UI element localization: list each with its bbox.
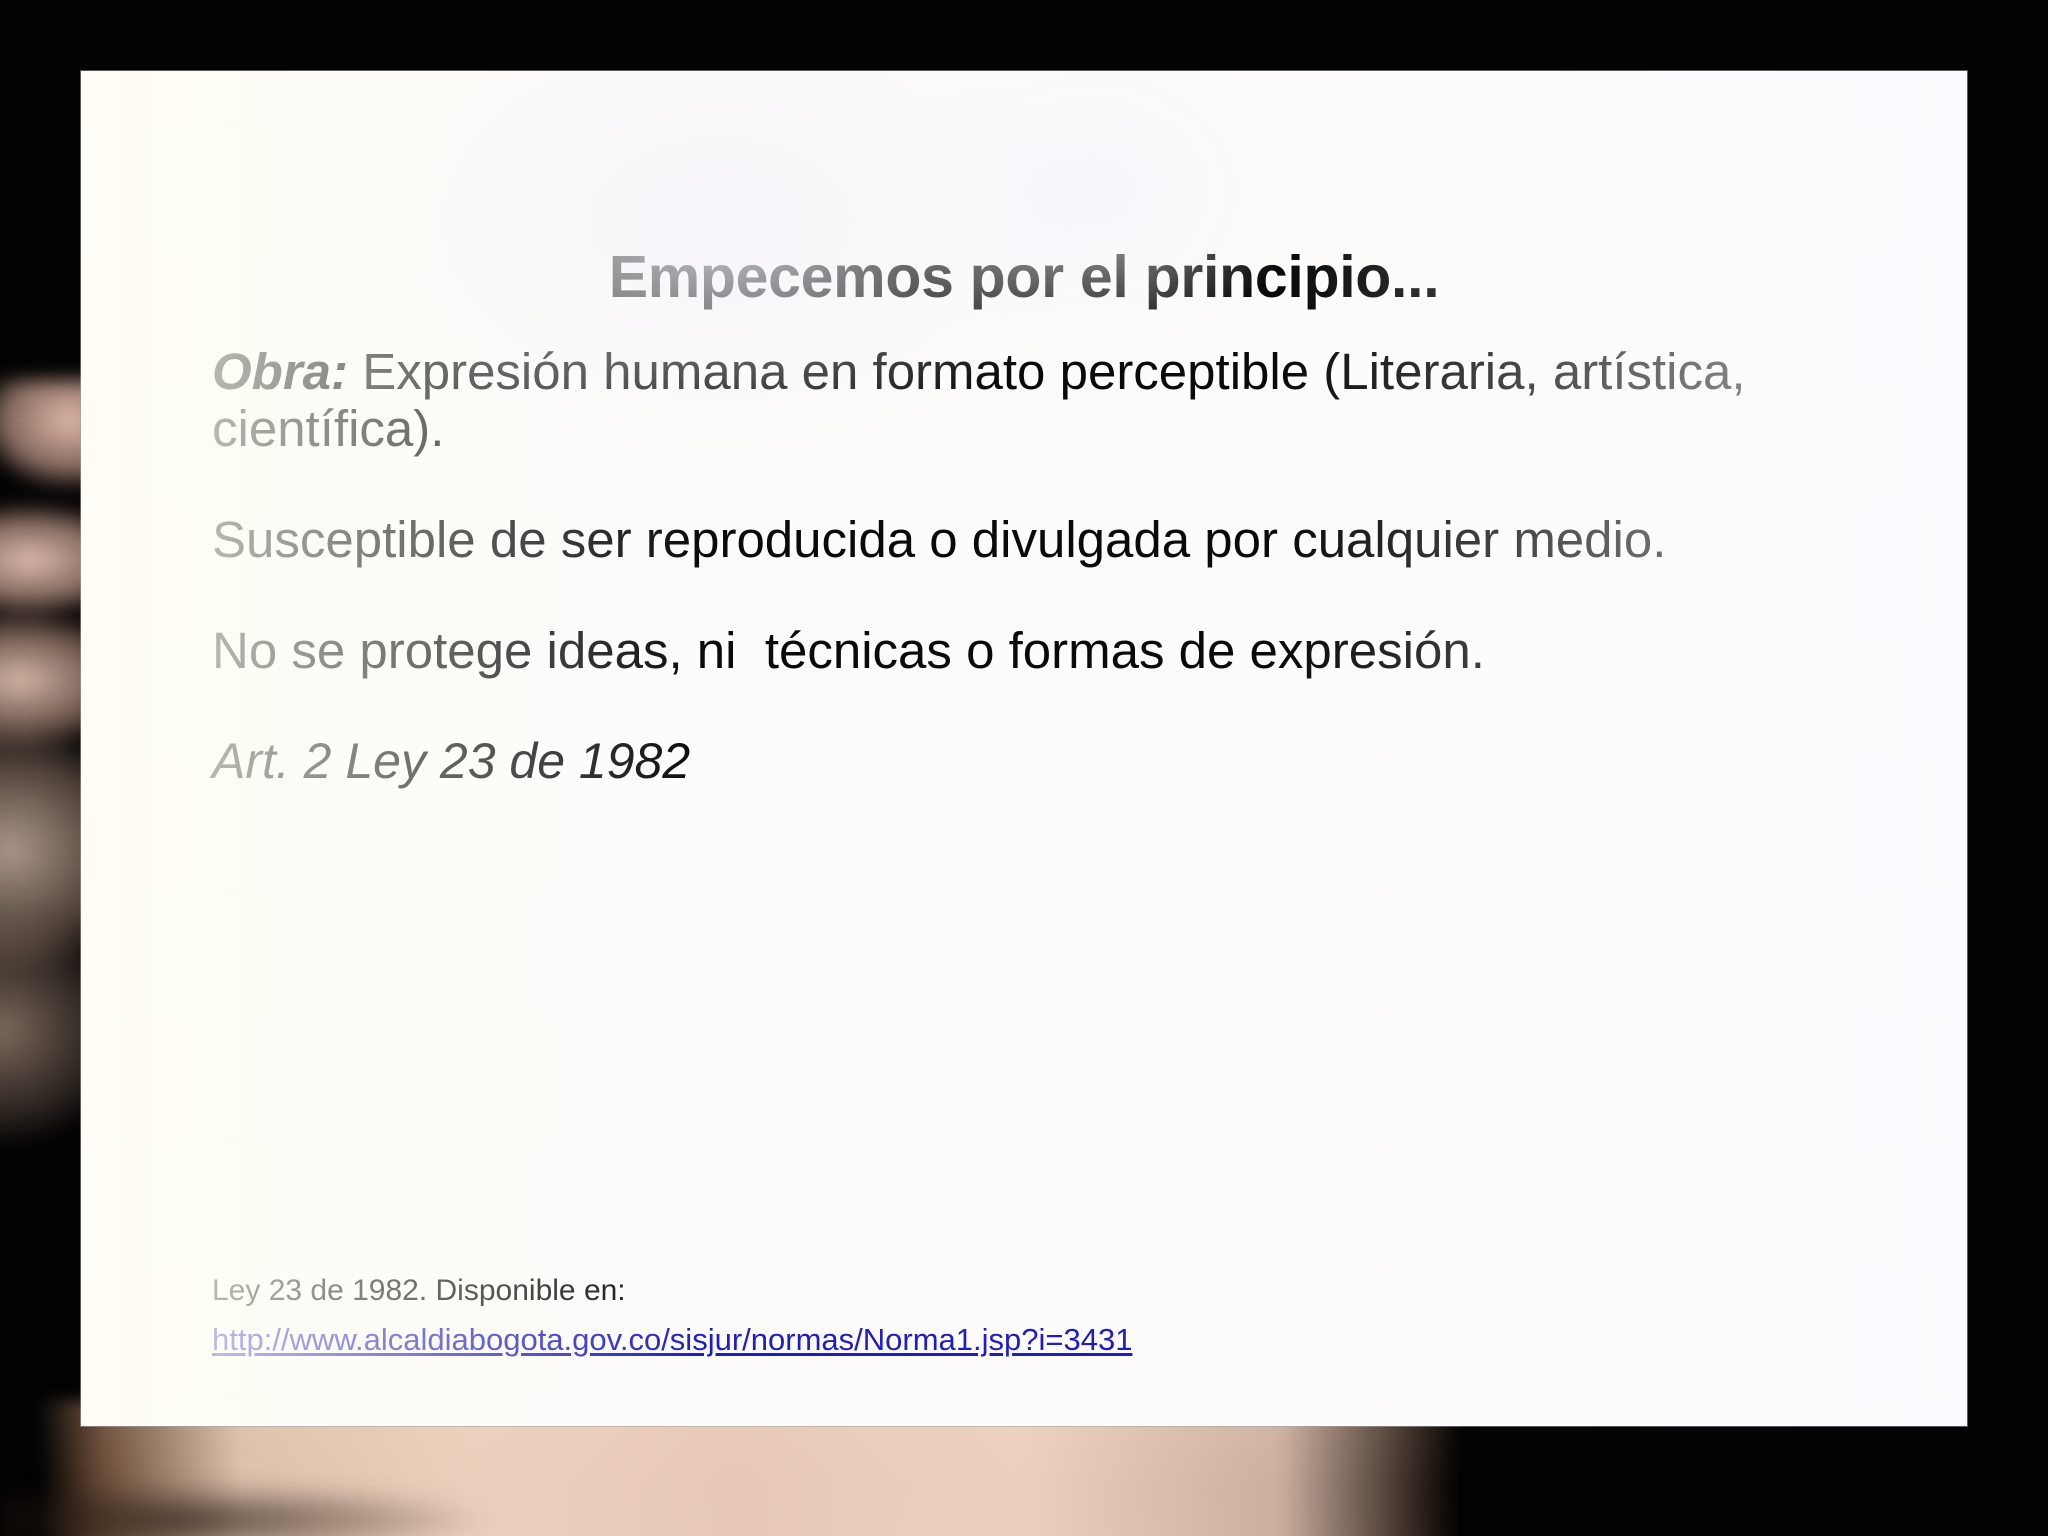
footer-source-text: Ley 23 de 1982. Disponible en: xyxy=(212,1271,1852,1312)
slide-footer: Ley 23 de 1982. Disponible en: http://ww… xyxy=(212,1271,1852,1360)
paragraph-obra-text: Expresión humana en formato perceptible … xyxy=(212,343,1760,457)
paragraph-citation: Art. 2 Ley 23 de 1982 xyxy=(212,733,1852,789)
presentation-stage: Empecemos por el principio... Obra: Expr… xyxy=(0,0,2048,1536)
slide-body: Obra: Expresión humana en formato percep… xyxy=(212,343,1852,789)
footer-source-link[interactable]: http://www.alcaldiabogota.gov.co/sisjur/… xyxy=(212,1320,1132,1360)
paragraph-no-se-protege: No se protege ideas, ni técnicas o forma… xyxy=(212,622,1852,679)
paragraph-obra: Obra: Expresión humana en formato percep… xyxy=(212,343,1852,457)
paragraph-susceptible: Susceptible de ser reproducida o divulga… xyxy=(212,511,1852,568)
paragraph-obra-lead: Obra: xyxy=(212,343,348,400)
slide-title: Empecemos por el principio... xyxy=(81,243,1967,311)
slide-canvas: Empecemos por el principio... Obra: Expr… xyxy=(81,71,1967,1426)
background-shadow xyxy=(0,1470,900,1536)
slide-content: Empecemos por el principio... Obra: Expr… xyxy=(81,71,1967,1426)
